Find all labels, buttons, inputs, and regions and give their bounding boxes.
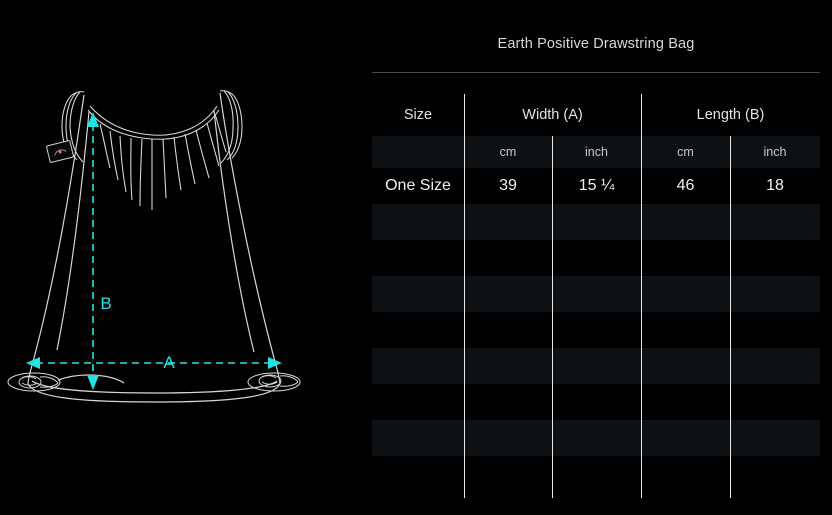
units-cell-length-cm: cm: [641, 136, 730, 168]
header-cell-size: Size: [372, 94, 464, 136]
table-row-empty: [372, 348, 820, 384]
measurement-line-b: [87, 112, 99, 390]
column-divider-2: [552, 136, 553, 498]
table-row-empty: [372, 384, 820, 420]
table-row-empty: [372, 420, 820, 456]
column-divider-1: [464, 94, 465, 498]
header-cell-length: Length (B): [641, 94, 820, 136]
drawstring-gather: [88, 106, 226, 210]
size-guide-screen: A B Earth Positive Drawstring Bag Size W…: [0, 0, 832, 515]
table-row-empty: [372, 276, 820, 312]
product-illustration-panel: A B: [0, 0, 360, 515]
dimension-label-b: B: [100, 294, 111, 313]
units-cell-width-cm: cm: [464, 136, 552, 168]
cord-end-right: [248, 373, 300, 391]
table-row-empty: [372, 240, 820, 276]
size-table: Size Width (A) Length (B) cm inch cm inc…: [372, 94, 820, 498]
header-cell-width: Width (A): [464, 94, 641, 136]
shoulder-strap-right: [220, 91, 242, 163]
table-row: One Size 39 15 ¼ 46 18: [372, 168, 820, 204]
dimension-label-a: A: [163, 353, 175, 372]
column-divider-3: [641, 94, 642, 498]
cell-width-cm: 39: [464, 168, 552, 204]
bag-base: [28, 375, 280, 402]
units-cell-width-inch: inch: [552, 136, 641, 168]
cell-length-inch: 18: [730, 168, 820, 204]
page-title: Earth Positive Drawstring Bag: [360, 36, 832, 52]
measurement-line-a: [26, 357, 282, 369]
table-row-empty: [372, 312, 820, 348]
table-row-empty: [372, 456, 820, 492]
bag-body-outline: [28, 93, 280, 384]
size-table-panel: Earth Positive Drawstring Bag Size Width…: [360, 0, 832, 515]
column-divider-4: [730, 136, 731, 498]
table-units-row: cm inch cm inch: [372, 136, 820, 168]
cell-length-cm: 46: [641, 168, 730, 204]
title-divider: [372, 72, 820, 73]
cell-size: One Size: [372, 168, 464, 204]
brand-tag: [46, 140, 73, 162]
cell-width-inch: 15 ¼: [552, 168, 641, 204]
table-header-row: Size Width (A) Length (B): [372, 94, 820, 136]
units-cell-length-inch: inch: [730, 136, 820, 168]
drawstring-bag-illustration: A B: [0, 0, 360, 515]
table-row-empty: [372, 204, 820, 240]
